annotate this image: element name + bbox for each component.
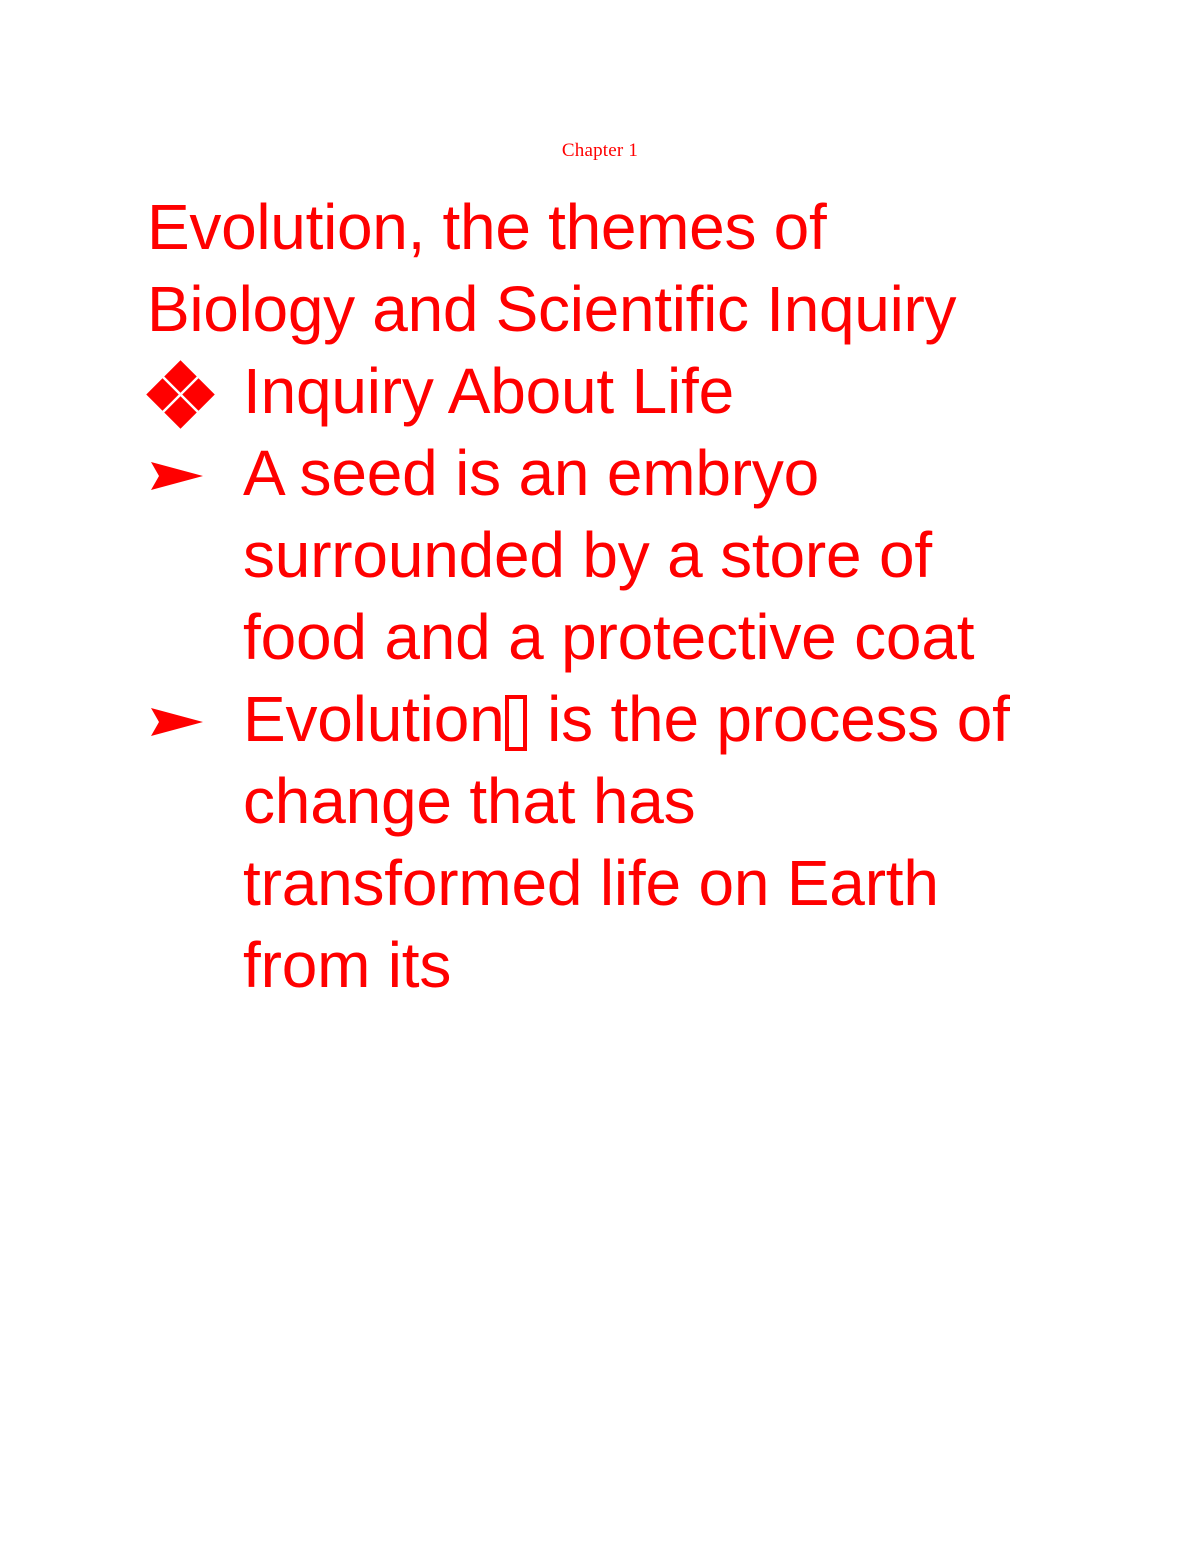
- bullet-item-evolution-definition: Evolution is the process of change that …: [147, 678, 1027, 1006]
- page-title-line-3: Inquiry: [766, 273, 956, 345]
- bullet-item-seed-definition: A seed is an embryo surrounded by a stor…: [147, 432, 1027, 678]
- page-title: Evolution, the themes of Biology and Sci…: [147, 186, 1027, 350]
- bullet-item-label-before-glyph: Evolution: [243, 683, 504, 755]
- missing-glyph-box-icon: [505, 695, 527, 751]
- page-title-line-1: Evolution, the themes of: [147, 191, 826, 263]
- arrowhead-bullet-icon: [147, 453, 243, 499]
- bullet-item-inquiry-about-life: Inquiry About Life: [147, 350, 1027, 432]
- diamond-bullet-icon: [147, 363, 243, 421]
- arrowhead-bullet-icon: [147, 699, 243, 745]
- bullet-item-label: Inquiry About Life: [243, 355, 734, 427]
- bullet-item-label: A seed is an embryo surrounded by a stor…: [243, 437, 974, 673]
- chapter-header: Chapter 1: [0, 140, 1200, 162]
- document-body: Evolution, the themes of Biology and Sci…: [147, 186, 1027, 1006]
- document-page: Chapter 1 Evolution, the themes of Biolo…: [0, 0, 1200, 1553]
- page-title-line-2: Biology and Scientific: [147, 273, 749, 345]
